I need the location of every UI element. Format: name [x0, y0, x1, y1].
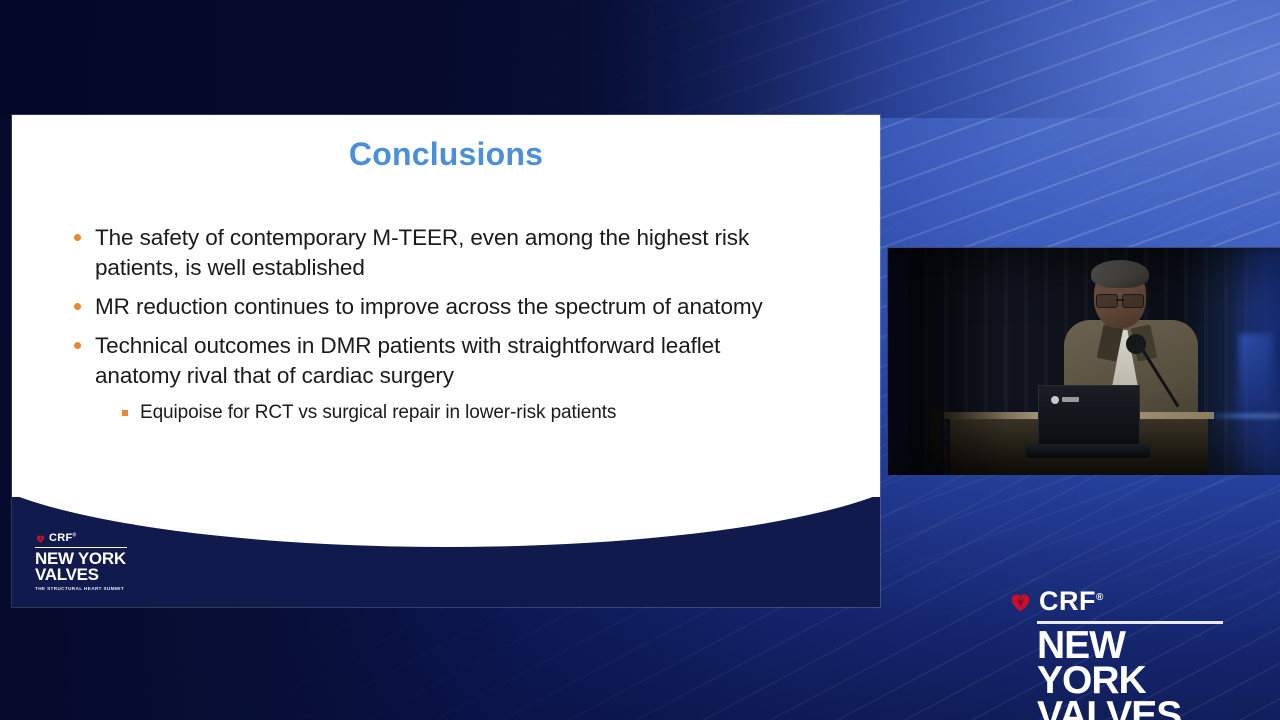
- crf-wordmark: CRF®: [35, 533, 155, 544]
- sub-bullet-item: Equipoise for RCT vs surgical repair in …: [122, 400, 844, 426]
- background-top-shade: [0, 0, 1280, 118]
- bullet-dot-icon: [74, 342, 81, 349]
- bullet-text: MR reduction continues to improve across…: [95, 292, 763, 322]
- slide-brand-logo: CRF® NEW YORK VALVES THE STRUCTURAL HEAR…: [35, 533, 155, 592]
- logo-line-1: NEW YORK: [1037, 628, 1224, 698]
- crf-text: CRF®: [1039, 588, 1104, 615]
- event-brand-logo: CRF® NEW YORK VALVES: [1008, 588, 1224, 720]
- crf-wordmark: CRF®: [1008, 588, 1224, 615]
- heart-icon: [35, 533, 46, 544]
- bullet-item: Technical outcomes in DMR patients with …: [74, 331, 844, 391]
- logo-line-2: VALVES: [1037, 698, 1224, 720]
- bullet-item: The safety of contemporary M-TEER, even …: [74, 223, 844, 283]
- bullet-square-icon: [122, 410, 128, 416]
- bullet-text: The safety of contemporary M-TEER, even …: [95, 223, 811, 283]
- slide-title: Conclusions: [12, 136, 880, 173]
- crf-text: CRF®: [49, 533, 77, 544]
- bullet-item: MR reduction continues to improve across…: [74, 292, 844, 322]
- slide-bullet-list: The safety of contemporary M-TEER, even …: [74, 223, 844, 435]
- speaker-video-panel[interactable]: [887, 247, 1280, 475]
- logo-divider: [35, 547, 127, 549]
- sub-bullet-text: Equipoise for RCT vs surgical repair in …: [140, 400, 616, 426]
- bullet-dot-icon: [74, 234, 81, 241]
- bullet-text: Technical outcomes in DMR patients with …: [95, 331, 811, 391]
- presentation-slide: Conclusions The safety of contemporary M…: [12, 115, 880, 607]
- bullet-dot-icon: [74, 303, 81, 310]
- heart-icon: [1008, 589, 1033, 614]
- screen: Conclusions The safety of contemporary M…: [0, 0, 1280, 720]
- logo-line-2: VALVES: [35, 567, 155, 583]
- video-vignette: [888, 248, 1280, 475]
- logo-tagline: THE STRUCTURAL HEART SUMMIT: [35, 586, 155, 591]
